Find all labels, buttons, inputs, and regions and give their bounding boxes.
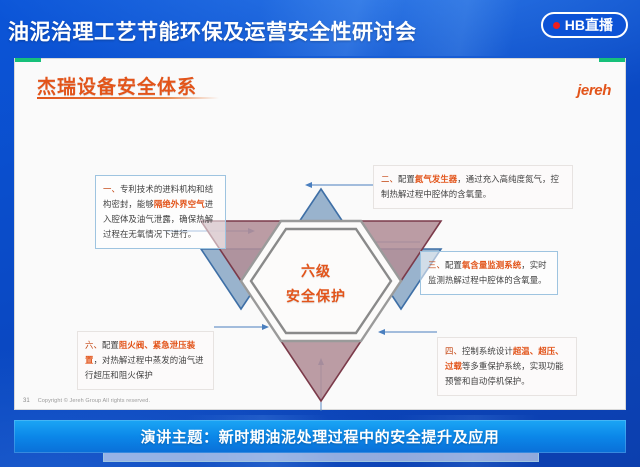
callout-four: 四、控制系统设计超温、超压、过载等多重保护系统，实现功能预警和自动停机保护。 — [437, 337, 577, 396]
callout-text: 等多重保护系统，实现功能预警和自动停机保护。 — [445, 361, 564, 386]
callout-number: 六、 — [85, 340, 102, 350]
callout-number: 二、 — [381, 174, 398, 184]
slide-canvas: 杰瑞设备安全体系 jereh — [14, 58, 626, 410]
callout-highlight: 氮气发生器 — [415, 174, 457, 184]
live-badge[interactable]: HB直播 — [541, 12, 628, 38]
callout-text: 配置 — [102, 340, 119, 350]
live-dot-icon — [553, 22, 560, 29]
callout-highlight: 氧含量监测系统 — [462, 260, 521, 270]
callout-two: 二、配置氮气发生器，通过充入高纯度氮气，控制热解过程中腔体的含氧量。 — [373, 165, 573, 209]
center-label-line2: 安全保护 — [258, 284, 374, 309]
slide-copyright: Copyright © Jereh Group All rights reser… — [38, 398, 150, 404]
callout-highlight: 隔绝外界空气 — [154, 199, 205, 209]
center-hexagon-label: 六级 安全保护 — [258, 259, 374, 308]
callout-number: 一、 — [103, 184, 120, 194]
callout-text: ，对热解过程中蒸发的油气进行超压和阻火保护 — [85, 355, 204, 380]
bottom-topic-banner: 演讲主题：新时期油泥处理过程中的安全提升及应用 — [14, 420, 626, 453]
callout-three: 三、配置氧含量监测系统，实时监测热解过程中腔体的含氧量。 — [420, 251, 558, 295]
callout-six: 六、配置阻火阀、紧急泄压装置，对热解过程中蒸发的油气进行超压和阻火保护 — [77, 331, 214, 390]
star-point-bottom — [281, 341, 361, 401]
top-title-bar: 油泥治理工艺节能环保及运营安全性研讨会 HB直播 — [0, 0, 640, 57]
callout-text: 控制系统设计 — [462, 346, 513, 356]
center-label-line1: 六级 — [258, 259, 374, 284]
page-title: 油泥治理工艺节能环保及运营安全性研讨会 — [8, 16, 417, 46]
bottom-topic-text: 演讲主题：新时期油泥处理过程中的安全提升及应用 — [141, 426, 500, 447]
callout-number: 三、 — [428, 260, 445, 270]
callout-text: 配置 — [398, 174, 415, 184]
slide-footer: 31 Copyright © Jereh Group All rights re… — [23, 398, 150, 404]
slide-page-number: 31 — [23, 398, 30, 404]
callout-one: 一、专利技术的进料机构和结构密封，能够隔绝外界空气进入腔体及油气泄露，确保热解过… — [95, 175, 226, 249]
live-badge-label: HB直播 — [565, 15, 613, 35]
callout-number: 四、 — [445, 346, 462, 356]
callout-text: 配置 — [445, 260, 462, 270]
